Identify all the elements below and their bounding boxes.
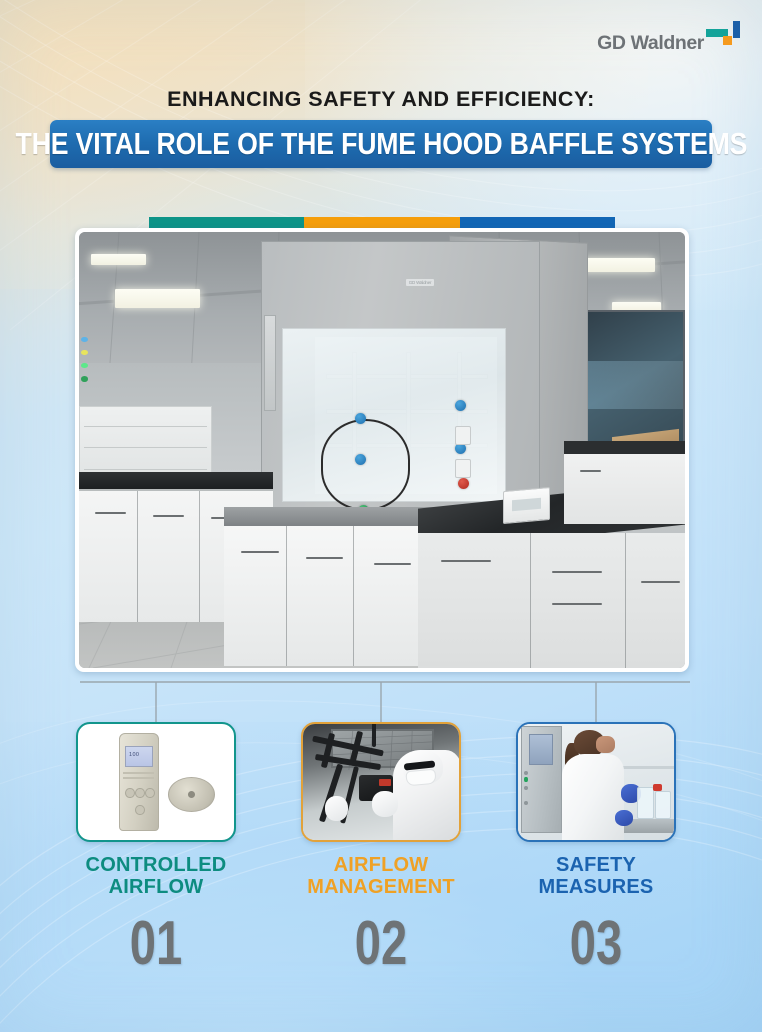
sensor-disc-icon — [168, 777, 215, 812]
rear-bench-cabinets — [564, 454, 685, 524]
card-2-image — [301, 722, 461, 842]
scientist-glove-lower — [615, 810, 634, 826]
card-1-label-line1: CONTROLLED — [56, 854, 256, 876]
hero-image-frame: GD Waldner — [75, 228, 689, 672]
airflow-monitor-device-icon: 100 — [119, 733, 160, 830]
hood-brand-label: GD Waldner — [406, 279, 435, 286]
card-3-image — [516, 722, 676, 842]
hood-control-panel[interactable] — [264, 315, 276, 411]
sensor-disc-port — [188, 791, 195, 798]
kicker-heading: ENHANCING SAFETY AND EFFICIENCY: — [0, 87, 762, 112]
infographic-poster: GD Waldner ENHANCING SAFETY AND EFFICIEN… — [0, 0, 762, 1032]
scientist-lab-coat — [562, 754, 624, 840]
lab-instrument-cabinet — [521, 726, 562, 833]
card-3-label: SAFETY MEASURES — [496, 854, 696, 899]
technician-glove-right — [372, 791, 399, 817]
cabinet-status-indicator — [524, 777, 527, 782]
card-3-label-line2: MEASURES — [496, 876, 696, 898]
service-valve-3[interactable] — [455, 400, 466, 411]
device-button-3[interactable] — [145, 788, 155, 799]
service-valve-1[interactable] — [355, 413, 366, 424]
card-2-number: 02 — [305, 913, 457, 975]
device-screen-value: 100 — [129, 752, 139, 758]
island-bench-cabinets — [418, 533, 685, 668]
card-3-label-line1: SAFETY — [496, 854, 696, 876]
card-1-label: CONTROLLED AIRFLOW — [56, 854, 256, 899]
cabinet-button-2[interactable] — [524, 786, 527, 790]
cabinet-button-1[interactable] — [524, 771, 527, 775]
device-button-4[interactable] — [135, 805, 145, 816]
logo-orange-square-icon — [723, 36, 732, 45]
brand-logo: GD Waldner — [597, 20, 740, 54]
brand-logo-text: GD Waldner — [597, 34, 704, 55]
reagent-bottle-2 — [655, 791, 671, 819]
cabinet-button-3[interactable] — [524, 801, 527, 805]
title-banner: THE VITAL ROLE OF THE FUME HOOD BAFFLE S… — [50, 120, 712, 168]
hood-hose-loop — [321, 419, 410, 510]
feature-cards: 100 CONTROLLED AIRFLOW 01 — [0, 722, 762, 1032]
technician-glove-left — [325, 796, 348, 822]
device-button-2[interactable] — [135, 788, 145, 799]
feature-card-controlled-airflow[interactable]: 100 CONTROLLED AIRFLOW 01 — [56, 722, 256, 975]
probe-rod — [372, 722, 376, 747]
card-1-image: 100 — [76, 722, 236, 842]
meter-indicator — [379, 779, 391, 786]
feature-card-airflow-management[interactable]: AIRFLOW MANAGEMENT 02 — [281, 722, 481, 975]
card-2-label-line1: AIRFLOW — [281, 854, 481, 876]
device-button-1[interactable] — [125, 788, 135, 799]
card-2-label-line2: MANAGEMENT — [281, 876, 481, 898]
reagent-bottle-1 — [637, 787, 655, 819]
airflow-monitor-screen — [512, 498, 541, 512]
hero-image: GD Waldner — [79, 232, 685, 668]
airflow-monitor-unit[interactable] — [503, 487, 550, 524]
rear-bench-worktop — [564, 441, 685, 454]
page-title: THE VITAL ROLE OF THE FUME HOOD BAFFLE S… — [15, 126, 747, 162]
cabinet-display-screen — [529, 734, 553, 765]
power-socket-1[interactable] — [455, 426, 471, 445]
card-3-number: 03 — [520, 913, 672, 975]
power-socket-2[interactable] — [455, 459, 471, 478]
brand-logo-mark — [706, 20, 740, 54]
left-bench-worktop — [79, 472, 273, 489]
device-lcd-screen: 100 — [125, 746, 153, 767]
logo-blue-bar-icon — [733, 21, 740, 38]
card-1-label-line2: AIRFLOW — [56, 876, 256, 898]
bottle-red-cap — [653, 784, 662, 791]
card-2-label: AIRFLOW MANAGEMENT — [281, 854, 481, 899]
window-reflection — [578, 361, 683, 410]
scientist-face — [596, 736, 615, 753]
control-led-green-2 — [81, 376, 88, 382]
card-1-number: 01 — [80, 913, 232, 975]
feature-card-safety-measures[interactable]: SAFETY MEASURES 03 — [496, 722, 696, 975]
